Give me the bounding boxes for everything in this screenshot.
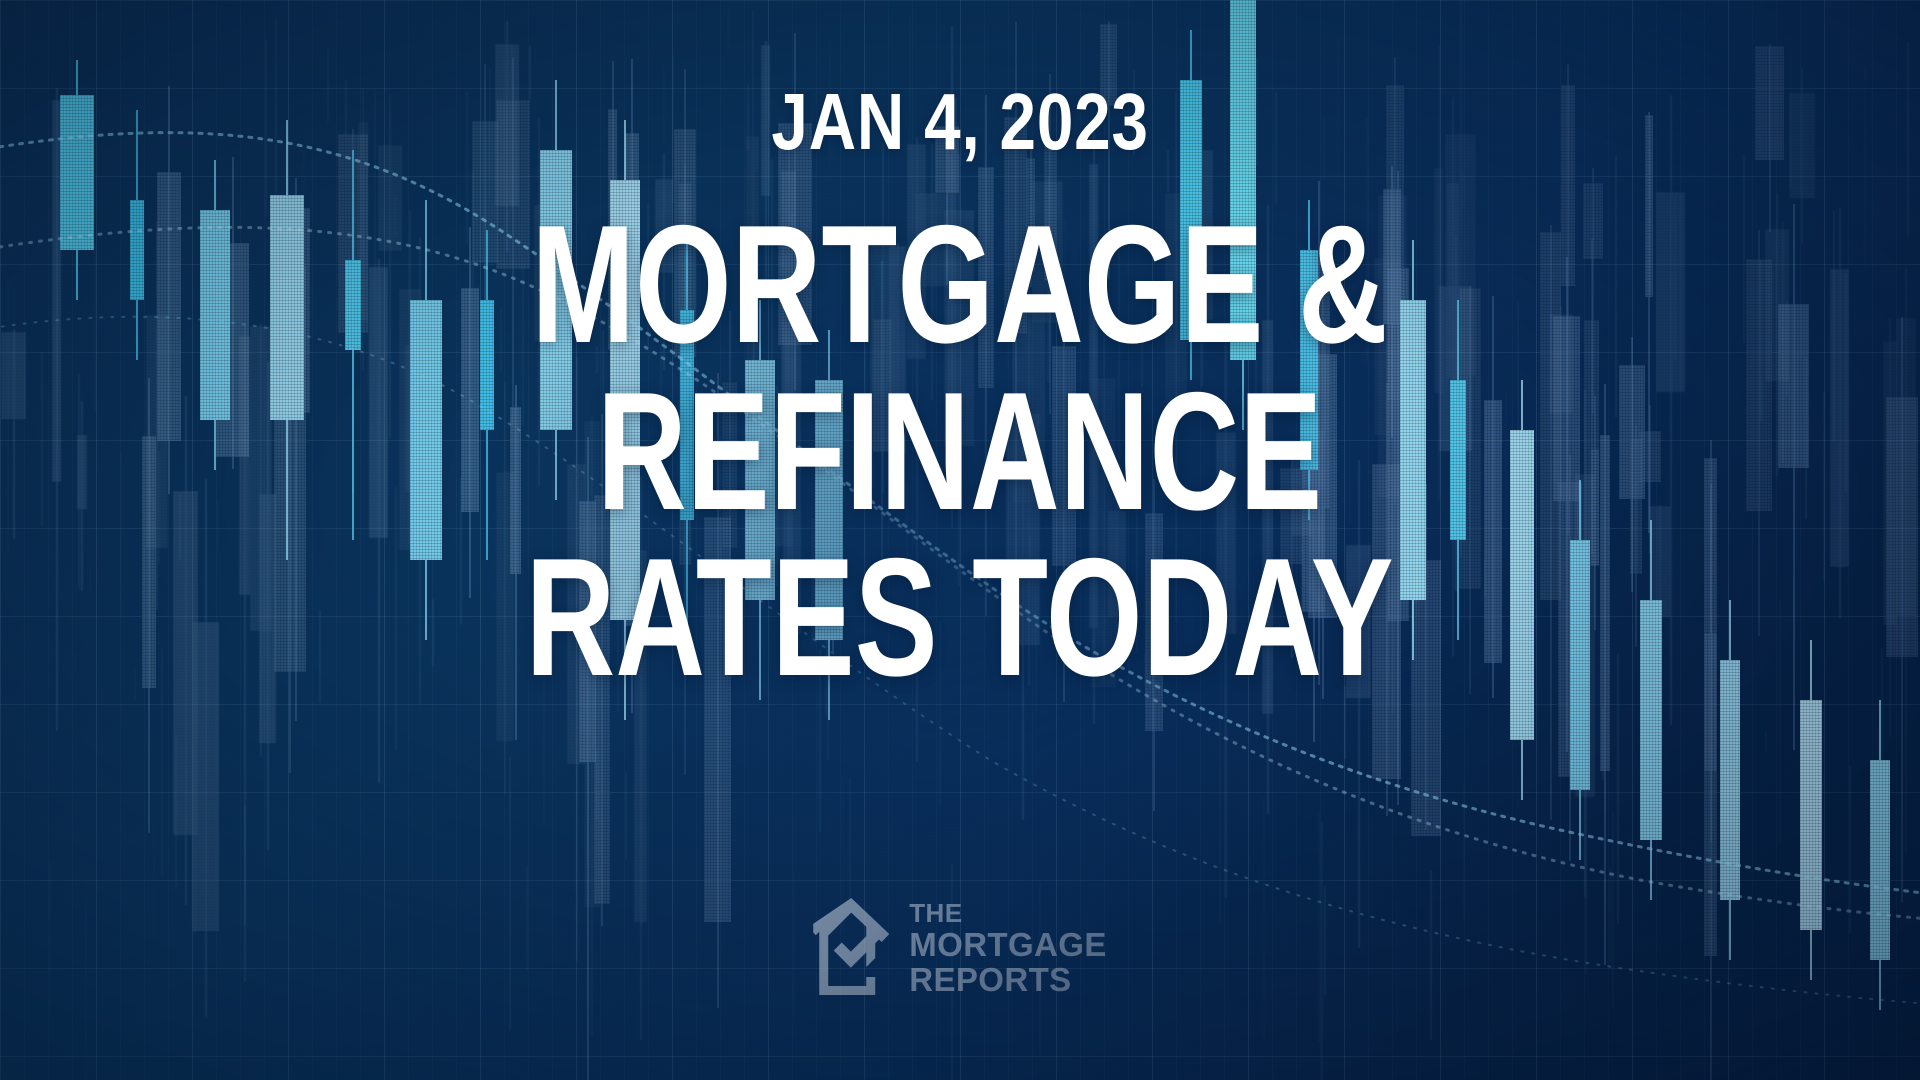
page-title: MORTGAGE & REFINANCE RATES TODAY (373, 201, 1546, 700)
page-title-line-2: REFINANCE (526, 368, 1394, 534)
page-title-line-1: MORTGAGE & (526, 201, 1394, 367)
content-stack: JAN 4, 2023 MORTGAGE & REFINANCE RATES T… (0, 0, 1920, 1080)
page-title-line-3: RATES TODAY (526, 534, 1394, 700)
hero-banner: JAN 4, 2023 MORTGAGE & REFINANCE RATES T… (0, 0, 1920, 1080)
date-label: JAN 4, 2023 (771, 84, 1148, 159)
